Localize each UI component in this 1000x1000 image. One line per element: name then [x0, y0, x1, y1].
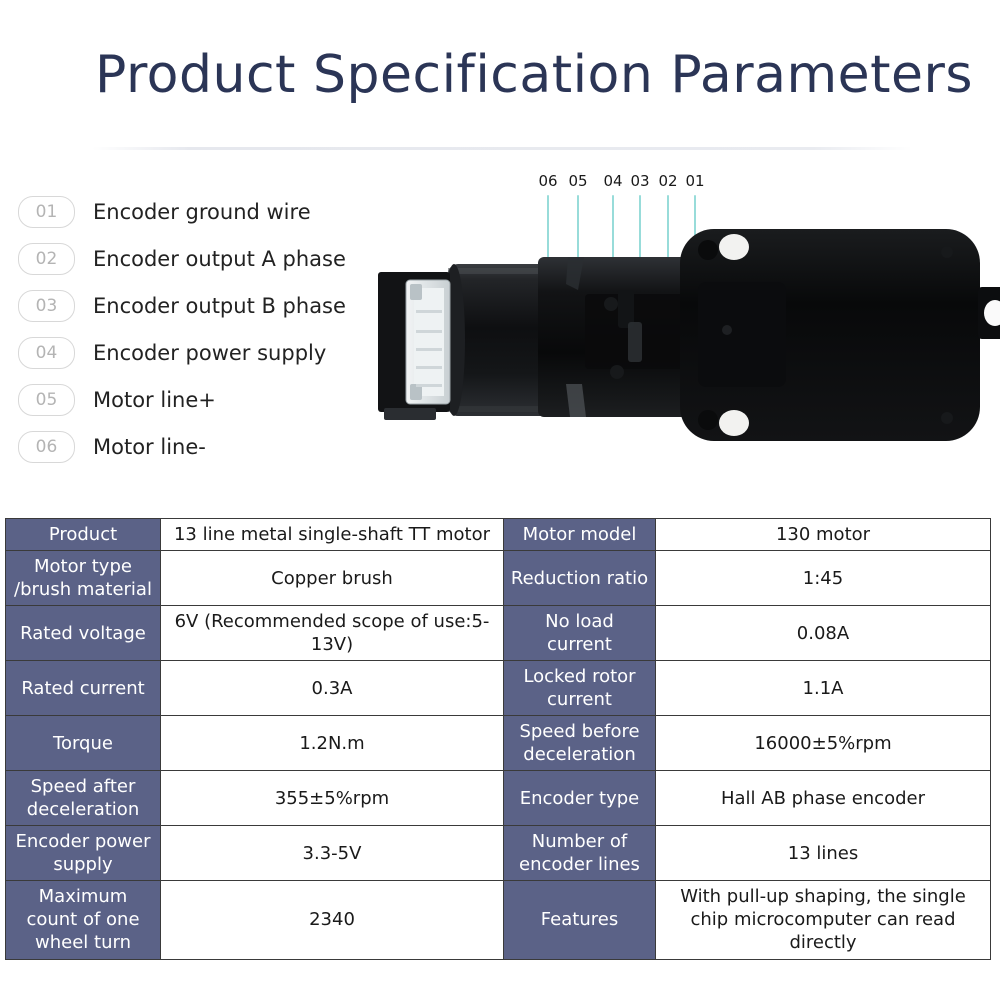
- list-item: 05 Motor line+: [18, 376, 378, 423]
- list-item: 02 Encoder output A phase: [18, 235, 378, 282]
- spec-value: 0.08A: [656, 606, 991, 661]
- table-row: Encoder power supply 3.3-5V Number of en…: [6, 826, 991, 881]
- spec-value: 1.1A: [656, 661, 991, 716]
- legend-label-04: Encoder power supply: [93, 341, 326, 365]
- table-row: Rated voltage 6V (Recommended scope of u…: [6, 606, 991, 661]
- legend-badge-05: 05: [18, 384, 75, 416]
- table-row: Rated current 0.3A Locked rotor current …: [6, 661, 991, 716]
- spec-label: Encoder type: [504, 771, 656, 826]
- spec-label: Motor type /brush material: [6, 551, 161, 606]
- spec-value: 6V (Recommended scope of use:5-13V): [161, 606, 504, 661]
- spec-label: No load current: [504, 606, 656, 661]
- table-row: Speed after deceleration 355±5%rpm Encod…: [6, 771, 991, 826]
- motor-product-image: [370, 172, 1000, 462]
- spec-value: 1:45: [656, 551, 991, 606]
- legend-badge-02: 02: [18, 243, 75, 275]
- spec-value: 13 line metal single-shaft TT motor: [161, 519, 504, 551]
- legend-label-02: Encoder output A phase: [93, 247, 346, 271]
- spec-label: Features: [504, 881, 656, 959]
- spec-value: With pull-up shaping, the single chip mi…: [656, 881, 991, 959]
- spec-value: 1.2N.m: [161, 716, 504, 771]
- list-item: 01 Encoder ground wire: [18, 188, 378, 235]
- spec-value: 355±5%rpm: [161, 771, 504, 826]
- legend-badge-01: 01: [18, 196, 75, 228]
- spec-label: Rated voltage: [6, 606, 161, 661]
- table-row: Maximum count of one wheel turn 2340 Fea…: [6, 881, 991, 959]
- spec-value: Copper brush: [161, 551, 504, 606]
- gearbox-housing: [680, 229, 980, 441]
- mounting-boss-top: [719, 234, 749, 260]
- list-item: 03 Encoder output B phase: [18, 282, 378, 329]
- spec-label: Speed before deceleration: [504, 716, 656, 771]
- spec-label: Encoder power supply: [6, 826, 161, 881]
- spec-value: Hall AB phase encoder: [656, 771, 991, 826]
- spec-value: 3.3-5V: [161, 826, 504, 881]
- spec-label: Product: [6, 519, 161, 551]
- table-row: Product 13 line metal single-shaft TT mo…: [6, 519, 991, 551]
- spec-value: 0.3A: [161, 661, 504, 716]
- spec-label: Torque: [6, 716, 161, 771]
- title-underline-divider: [92, 147, 912, 150]
- spec-label: Rated current: [6, 661, 161, 716]
- product-photo-figure: 06 05 04 03 02 01: [370, 172, 1000, 462]
- legend-badge-04: 04: [18, 337, 75, 369]
- title-block: Product Specification Parameters: [0, 42, 1000, 114]
- list-item: 04 Encoder power supply: [18, 329, 378, 376]
- pinout-legend-list: 01 Encoder ground wire 02 Encoder output…: [18, 188, 378, 470]
- legend-badge-06: 06: [18, 431, 75, 463]
- spec-label: Reduction ratio: [504, 551, 656, 606]
- spec-label: Number of encoder lines: [504, 826, 656, 881]
- spec-value: 2340: [161, 881, 504, 959]
- legend-label-05: Motor line+: [93, 388, 216, 412]
- mounting-tab: [978, 287, 1000, 339]
- legend-label-01: Encoder ground wire: [93, 200, 311, 224]
- legend-badge-03: 03: [18, 290, 75, 322]
- spec-label: Speed after deceleration: [6, 771, 161, 826]
- specification-table: Product 13 line metal single-shaft TT mo…: [5, 518, 991, 960]
- spec-value: 130 motor: [656, 519, 991, 551]
- spec-value: 13 lines: [656, 826, 991, 881]
- page-title: Product Specification Parameters: [95, 42, 973, 108]
- spec-value: 16000±5%rpm: [656, 716, 991, 771]
- spec-label: Locked rotor current: [504, 661, 656, 716]
- legend-label-06: Motor line-: [93, 435, 206, 459]
- table-row: Torque 1.2N.m Speed before deceleration …: [6, 716, 991, 771]
- mounting-boss-bottom: [719, 410, 749, 436]
- list-item: 06 Motor line-: [18, 423, 378, 470]
- spec-label: Motor model: [504, 519, 656, 551]
- spec-label: Maximum count of one wheel turn: [6, 881, 161, 959]
- encoder-connector: [378, 272, 450, 420]
- legend-label-03: Encoder output B phase: [93, 294, 346, 318]
- table-row: Motor type /brush material Copper brush …: [6, 551, 991, 606]
